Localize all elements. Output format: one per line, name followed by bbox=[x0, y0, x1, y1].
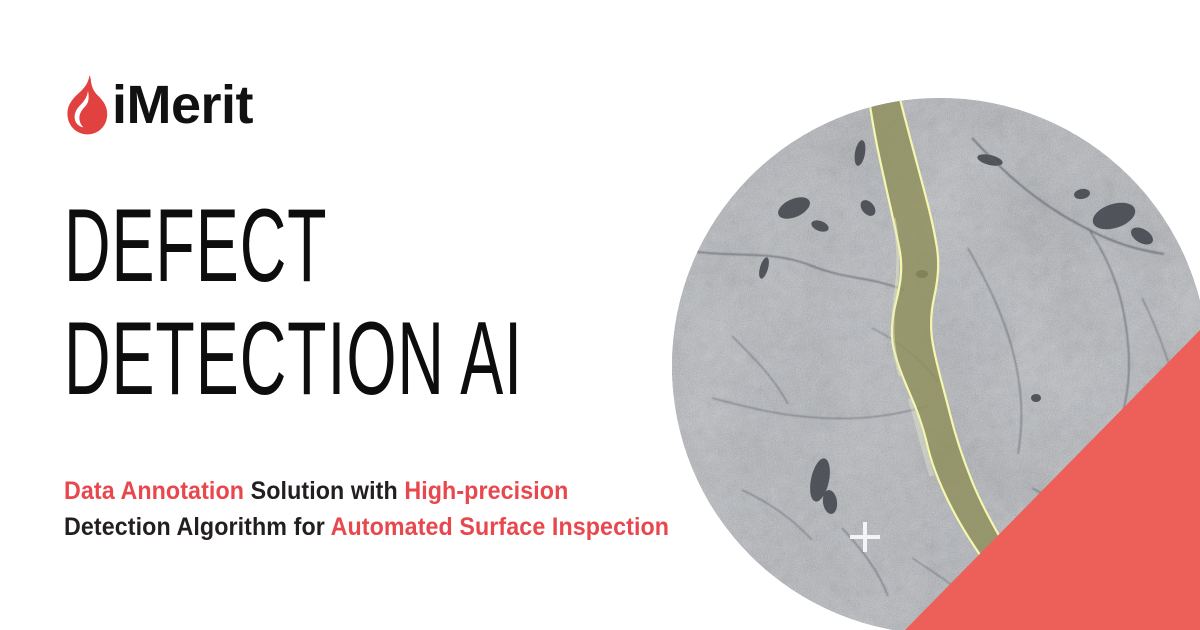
subtitle-segment-body: Solution with bbox=[244, 477, 404, 505]
subtitle-segment-accent: High-precision bbox=[404, 477, 568, 505]
page-title: DEFECT DETECTION AI bbox=[64, 196, 684, 410]
imerit-wordmark: iMerit bbox=[112, 78, 253, 132]
headline-line-1: DEFECT bbox=[64, 196, 448, 297]
subtitle: Data Annotation Solution with High-preci… bbox=[64, 474, 724, 545]
crosshair-marker bbox=[850, 522, 880, 552]
imerit-logo[interactable]: iMerit bbox=[64, 72, 253, 138]
defect-detection-banner: iMerit DEFECT DETECTION AI Data Annotati… bbox=[0, 0, 1200, 630]
subtitle-line-1: Data Annotation Solution with High-preci… bbox=[64, 474, 678, 510]
subtitle-segment-accent: Data Annotation bbox=[64, 477, 244, 505]
subtitle-segment-body: Detection Algorithm for bbox=[64, 513, 331, 541]
subtitle-line-2: Detection Algorithm for Automated Surfac… bbox=[64, 510, 678, 546]
flame-icon bbox=[64, 74, 110, 136]
headline-line-2: DETECTION AI bbox=[64, 309, 448, 410]
subtitle-segment-accent: Automated Surface Inspection bbox=[331, 513, 670, 541]
